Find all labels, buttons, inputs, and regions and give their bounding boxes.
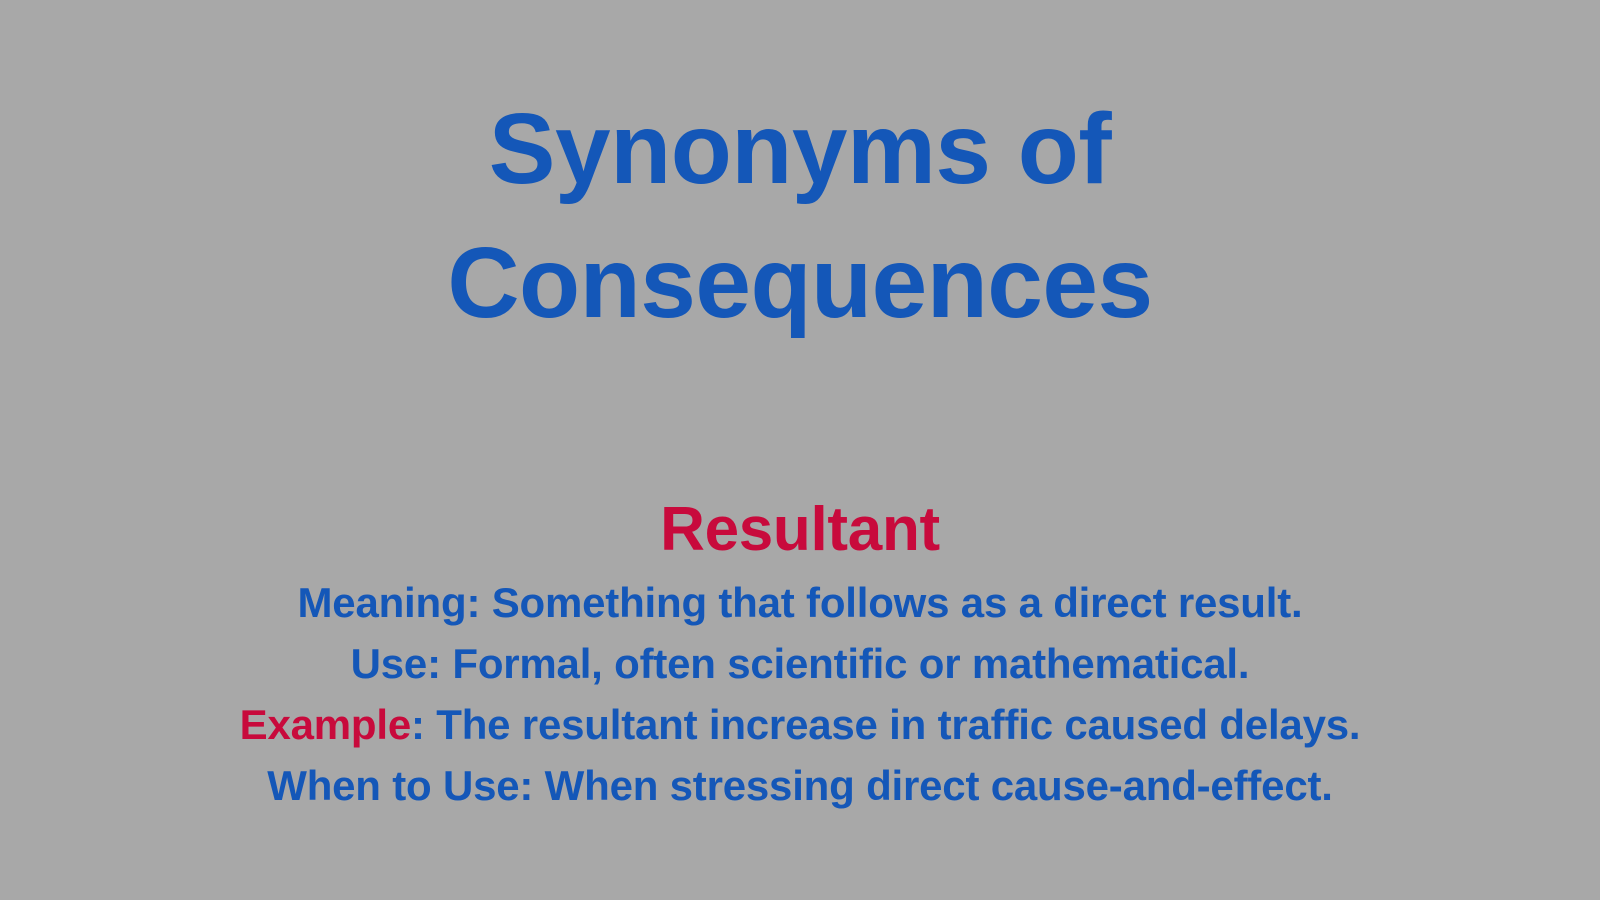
detail-text-when-to-use: When stressing direct cause-and-effect. bbox=[545, 762, 1333, 809]
detail-line-meaning: Meaning: Something that follows as a dir… bbox=[0, 572, 1600, 633]
synonym-detail-list: Meaning: Something that follows as a dir… bbox=[0, 572, 1600, 816]
detail-label-example: Example bbox=[240, 701, 411, 748]
detail-line-when-to-use: When to Use: When stressing direct cause… bbox=[0, 755, 1600, 816]
detail-label-when-to-use: When to Use bbox=[267, 762, 519, 809]
detail-separator-meaning: : bbox=[466, 579, 480, 626]
page-title: Synonyms of Consequences bbox=[0, 82, 1600, 350]
page-title-line-2: Consequences bbox=[0, 216, 1600, 350]
detail-label-use: Use bbox=[351, 640, 427, 687]
detail-separator-when-to-use: : bbox=[519, 762, 533, 809]
detail-separator-example: : bbox=[411, 701, 425, 748]
detail-line-example: Example: The resultant increase in traff… bbox=[0, 694, 1600, 755]
detail-text-example: The resultant increase in traffic caused… bbox=[436, 701, 1360, 748]
detail-text-use: Formal, often scientific or mathematical… bbox=[452, 640, 1249, 687]
synonym-word-heading: Resultant bbox=[0, 492, 1600, 568]
slide-canvas: Synonyms of Consequences Resultant Meani… bbox=[0, 0, 1600, 900]
detail-separator-use: : bbox=[427, 640, 441, 687]
detail-label-meaning: Meaning bbox=[298, 579, 467, 626]
detail-text-meaning: Something that follows as a direct resul… bbox=[492, 579, 1303, 626]
detail-line-use: Use: Formal, often scientific or mathema… bbox=[0, 633, 1600, 694]
page-title-line-1: Synonyms of bbox=[0, 82, 1600, 216]
synonym-entry: Resultant Meaning: Something that follow… bbox=[0, 492, 1600, 816]
